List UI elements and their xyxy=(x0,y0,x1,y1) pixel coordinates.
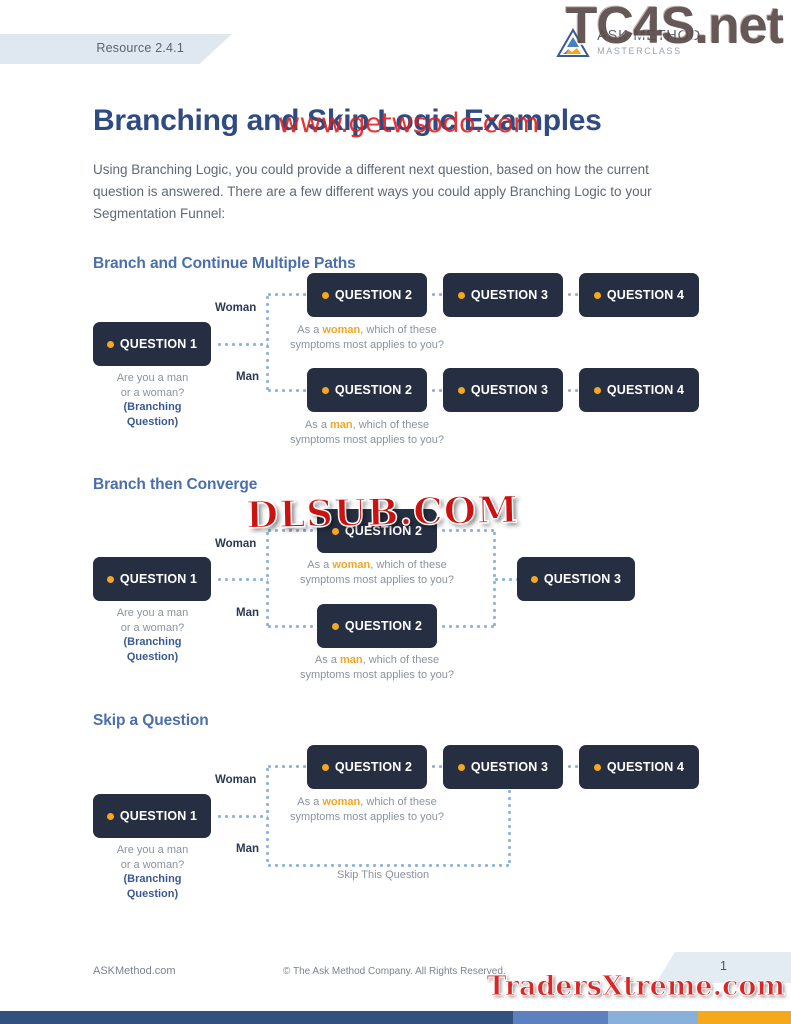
d3-woman-caption: As a woman, which of these symptoms most… xyxy=(282,795,452,824)
cap-l3: (Branching xyxy=(123,401,181,413)
d1-m-q3-label: QUESTION 3 xyxy=(471,383,548,397)
orange-dot-icon xyxy=(107,813,114,820)
document-page: Resource 2.4.1 ASK METHOD MASTERCLASS TC… xyxy=(0,0,791,1024)
w-cap-pre: As a xyxy=(307,559,332,571)
d1-connector-man xyxy=(266,389,308,392)
orange-dot-icon xyxy=(531,576,538,583)
d1-question-1-box[interactable]: QUESTION 1 xyxy=(93,322,211,366)
d3-q4-label: QUESTION 4 xyxy=(607,760,684,774)
d1-branch-label-woman: Woman xyxy=(215,302,256,314)
d2-connector-trunk xyxy=(266,530,269,628)
cap-l4: Question) xyxy=(127,416,178,428)
d1-question-1-caption: Are you a man or a woman? (Branching Que… xyxy=(85,371,220,429)
d2-connector-man xyxy=(266,625,318,628)
orange-dot-icon xyxy=(332,623,339,630)
bottom-bar-segment-navy xyxy=(0,1011,513,1024)
watermark-dlsub: DLSUB.COM xyxy=(246,487,520,537)
cap-l2: or a woman? xyxy=(121,387,185,399)
cap-l1: Are you a man xyxy=(117,844,189,856)
d1-w-q4-label: QUESTION 4 xyxy=(607,288,684,302)
d3-branch-label-woman: Woman xyxy=(215,774,256,786)
w-cap-hl: woman xyxy=(322,324,360,336)
w-cap-hl: woman xyxy=(332,559,370,571)
d3-connector-skip-up xyxy=(508,788,511,866)
page-title: Branching and Skip Logic Examples xyxy=(93,0,698,137)
orange-dot-icon xyxy=(332,528,339,535)
orange-dot-icon xyxy=(594,292,601,299)
d3-question-1-box[interactable]: QUESTION 1 xyxy=(93,794,211,838)
d3-connector-trunk xyxy=(266,766,269,866)
d2-connector-w-merge xyxy=(440,529,495,532)
w-cap-post: , which of these xyxy=(360,324,436,336)
d1-woman-question-4-box[interactable]: QUESTION 4 xyxy=(579,273,699,317)
d3-question-2-box[interactable]: QUESTION 2 xyxy=(307,745,427,789)
cap-l4: Question) xyxy=(127,888,178,900)
d3-q3-label: QUESTION 3 xyxy=(471,760,548,774)
w-cap-l2: symptoms most applies to you? xyxy=(300,574,454,586)
d2-q3-label: QUESTION 3 xyxy=(544,572,621,586)
d2-woman-caption: As a woman, which of these symptoms most… xyxy=(292,558,462,587)
orange-dot-icon xyxy=(458,764,465,771)
w-cap-l2: symptoms most applies to you? xyxy=(290,811,444,823)
d1-connector-trunk xyxy=(266,294,269,392)
orange-dot-icon xyxy=(322,292,329,299)
d1-connector-w-q2-q3 xyxy=(430,293,444,296)
d1-woman-question-3-box[interactable]: QUESTION 3 xyxy=(443,273,563,317)
d2-branch-label-man: Man xyxy=(236,607,259,619)
orange-dot-icon xyxy=(594,764,601,771)
d1-connector-m-q2-q3 xyxy=(430,389,444,392)
d2-question-3-box[interactable]: QUESTION 3 xyxy=(517,557,635,601)
m-cap-l2: symptoms most applies to you? xyxy=(290,434,444,446)
orange-dot-icon xyxy=(322,387,329,394)
d1-connector-woman xyxy=(266,293,308,296)
bottom-bar-segment-blue xyxy=(513,1011,608,1024)
d1-connector-m-q3-q4 xyxy=(566,389,580,392)
bottom-bar-segment-lightblue xyxy=(608,1011,698,1024)
d1-man-caption: As a man, which of these symptoms most a… xyxy=(282,418,452,447)
d1-m-q2-label: QUESTION 2 xyxy=(335,383,412,397)
cap-l2: or a woman? xyxy=(121,859,185,871)
d2-connector-merge-out xyxy=(493,578,518,581)
m-cap-hl: man xyxy=(340,654,363,666)
d3-connector-q1-out xyxy=(216,815,268,818)
d3-connector-woman xyxy=(266,765,308,768)
document-content: Branching and Skip Logic Examples Using … xyxy=(93,0,698,273)
section-title-skip-question: Skip a Question xyxy=(93,712,209,730)
d1-connector-w-q3-q4 xyxy=(566,293,580,296)
m-cap-pre: As a xyxy=(305,419,330,431)
cap-l1: Are you a man xyxy=(117,372,189,384)
d2-question-1-caption: Are you a man or a woman? (Branching Que… xyxy=(85,606,220,664)
cap-l2: or a woman? xyxy=(121,622,185,634)
d2-m-q2-label: QUESTION 2 xyxy=(345,619,422,633)
d3-connector-skip-bottom xyxy=(266,864,511,867)
d2-branch-label-woman: Woman xyxy=(215,538,256,550)
cap-l4: Question) xyxy=(127,651,178,663)
orange-dot-icon xyxy=(458,292,465,299)
w-cap-l2: symptoms most applies to you? xyxy=(290,339,444,351)
d1-m-q4-label: QUESTION 4 xyxy=(607,383,684,397)
d3-skip-label: Skip This Question xyxy=(337,869,429,881)
d2-woman-question-2-box[interactable]: QUESTION 2 xyxy=(317,509,437,553)
d2-connector-merge-trunk xyxy=(493,530,496,628)
m-cap-pre: As a xyxy=(315,654,340,666)
w-cap-post: , which of these xyxy=(360,796,436,808)
footer-site[interactable]: ASKMethod.com xyxy=(93,965,176,977)
d3-question-1-caption: Are you a man or a woman? (Branching Que… xyxy=(85,843,220,901)
m-cap-hl: man xyxy=(330,419,353,431)
d3-connector-q2-q3 xyxy=(430,765,444,768)
d2-connector-m-merge xyxy=(440,625,495,628)
d2-connector-woman xyxy=(266,529,318,532)
section-title-branch-converge: Branch then Converge xyxy=(93,476,257,494)
w-cap-post: , which of these xyxy=(370,559,446,571)
d1-connector-q1-out xyxy=(216,343,268,346)
d3-branch-label-man: Man xyxy=(236,843,259,855)
d3-q1-label: QUESTION 1 xyxy=(120,809,197,823)
orange-dot-icon xyxy=(594,387,601,394)
d1-woman-caption: As a woman, which of these symptoms most… xyxy=(282,323,452,352)
orange-dot-icon xyxy=(458,387,465,394)
d2-w-q2-label: QUESTION 2 xyxy=(345,524,422,538)
cap-l1: Are you a man xyxy=(117,607,189,619)
d1-man-question-2-box[interactable]: QUESTION 2 xyxy=(307,368,427,412)
d2-man-question-2-box[interactable]: QUESTION 2 xyxy=(317,604,437,648)
d2-question-1-box[interactable]: QUESTION 1 xyxy=(93,557,211,601)
w-cap-pre: As a xyxy=(297,796,322,808)
d1-w-q2-label: QUESTION 2 xyxy=(335,288,412,302)
page-number-tab: 1 xyxy=(656,952,791,983)
w-cap-pre: As a xyxy=(297,324,322,336)
d3-connector-q3-q4 xyxy=(566,765,580,768)
bottom-color-bar xyxy=(0,1011,791,1024)
d1-branch-label-man: Man xyxy=(236,371,259,383)
m-cap-post: , which of these xyxy=(353,419,429,431)
d2-connector-q1-out xyxy=(216,578,268,581)
section-title-branch-continue: Branch and Continue Multiple Paths xyxy=(93,255,698,273)
d1-q1-label: QUESTION 1 xyxy=(120,337,197,351)
m-cap-post: , which of these xyxy=(363,654,439,666)
orange-dot-icon xyxy=(107,341,114,348)
page-number: 1 xyxy=(720,959,727,973)
d3-q2-label: QUESTION 2 xyxy=(335,760,412,774)
cap-l3: (Branching xyxy=(123,873,181,885)
orange-dot-icon xyxy=(107,576,114,583)
footer-copyright: © The Ask Method Company. All Rights Res… xyxy=(283,966,506,977)
w-cap-hl: woman xyxy=(322,796,360,808)
orange-dot-icon xyxy=(322,764,329,771)
d1-woman-question-2-box[interactable]: QUESTION 2 xyxy=(307,273,427,317)
d1-w-q3-label: QUESTION 3 xyxy=(471,288,548,302)
m-cap-l2: symptoms most applies to you? xyxy=(300,669,454,681)
d1-man-question-4-box[interactable]: QUESTION 4 xyxy=(579,368,699,412)
d2-man-caption: As a man, which of these symptoms most a… xyxy=(292,653,462,682)
d2-q1-label: QUESTION 1 xyxy=(120,572,197,586)
cap-l3: (Branching xyxy=(123,636,181,648)
d3-question-3-box[interactable]: QUESTION 3 xyxy=(443,745,563,789)
d1-man-question-3-box[interactable]: QUESTION 3 xyxy=(443,368,563,412)
d3-question-4-box[interactable]: QUESTION 4 xyxy=(579,745,699,789)
bottom-bar-segment-orange xyxy=(698,1011,791,1024)
intro-paragraph: Using Branching Logic, you could provide… xyxy=(93,159,691,225)
